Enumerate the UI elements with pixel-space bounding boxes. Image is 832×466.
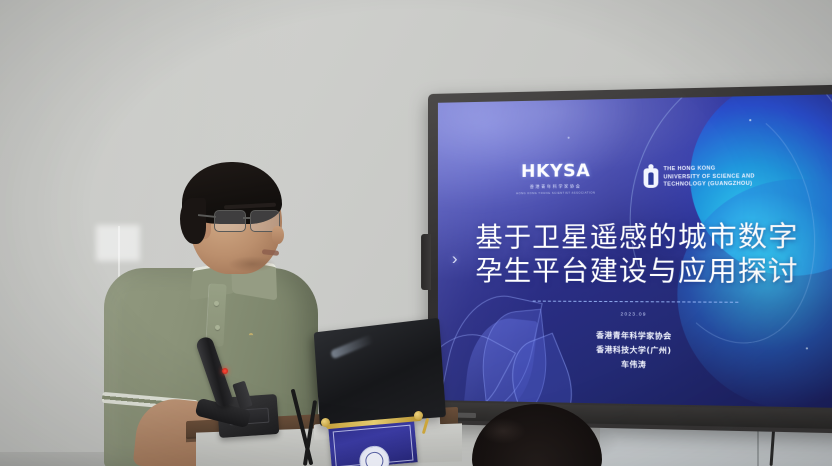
credit-speaker-name: 车伟涛: [596, 357, 671, 373]
slide-title-line-2: 孕生平台建设与应用探讨: [475, 255, 798, 290]
laptop-lid-glint: [330, 334, 374, 359]
polo-button: [214, 301, 219, 306]
hkust-logo-text: THE HONG KONG UNIVERSITY OF SCIENCE AND …: [663, 165, 754, 190]
hkust-line-3: TECHNOLOGY (GUANGZHOU): [663, 181, 754, 190]
slide-title: 基于卫星遥感的城市数字 孕生平台建设与应用探讨: [475, 220, 798, 290]
speaker-chin-shadow: [228, 256, 276, 272]
pennant-seal-inner-ring: [365, 451, 385, 466]
slide-logo-row: HKYSA 香港青年科学家协会 HONG KONG YOUNG SCIENTIS…: [516, 161, 755, 195]
hkysa-logo: HKYSA 香港青年科学家协会 HONG KONG YOUNG SCIENTIS…: [516, 163, 595, 195]
pennant-rod-knob-left: [321, 418, 330, 427]
slide-date: 2023.09: [621, 311, 647, 316]
credit-org-2: 香港科技大学(广州): [596, 343, 671, 358]
slide-divider: [532, 301, 738, 303]
hkust-shield-icon: [643, 168, 658, 188]
polo-button: [215, 325, 220, 330]
slide-credits: 香港青年科学家协会 香港科技大学(广州) 车伟涛: [596, 328, 671, 372]
hkysa-subtitle-en: HONG KONG YOUNG SCIENTIST ASSOCIATION: [516, 191, 595, 195]
slide-title-line-1: 基于卫星遥感的城市数字: [475, 220, 798, 255]
display-side-handle[interactable]: [421, 234, 431, 290]
laptop-lid[interactable]: [314, 318, 446, 426]
microphone-led-indicator: [222, 368, 228, 374]
hkysa-subtitle-cn: 香港青年科学家协会: [530, 183, 582, 190]
speaker-hair-side: [180, 198, 206, 244]
display-screen[interactable]: › HKYSA 香港青年科学家协会 HONG KONG YOUNG SCIENT…: [438, 94, 832, 408]
pennant-rod-knob-right: [414, 411, 423, 420]
photo-scene: › HKYSA 香港青年科学家协会 HONG KONG YOUNG SCIENT…: [0, 0, 832, 466]
hkysa-wordmark: HKYSA: [521, 163, 590, 181]
speaker-nose: [272, 226, 284, 244]
glasses-lens-left: [214, 210, 246, 232]
glasses-bridge: [243, 217, 251, 219]
credit-org-1: 香港青年科学家协会: [596, 328, 671, 343]
interactive-display[interactable]: › HKYSA 香港青年科学家协会 HONG KONG YOUNG SCIENT…: [428, 84, 832, 433]
polo-chest-emblem: ◓: [248, 330, 253, 341]
hkust-logo: THE HONG KONG UNIVERSITY OF SCIENCE AND …: [643, 165, 754, 190]
slide-content: HKYSA 香港青年科学家协会 HONG KONG YOUNG SCIENTIS…: [438, 94, 832, 408]
